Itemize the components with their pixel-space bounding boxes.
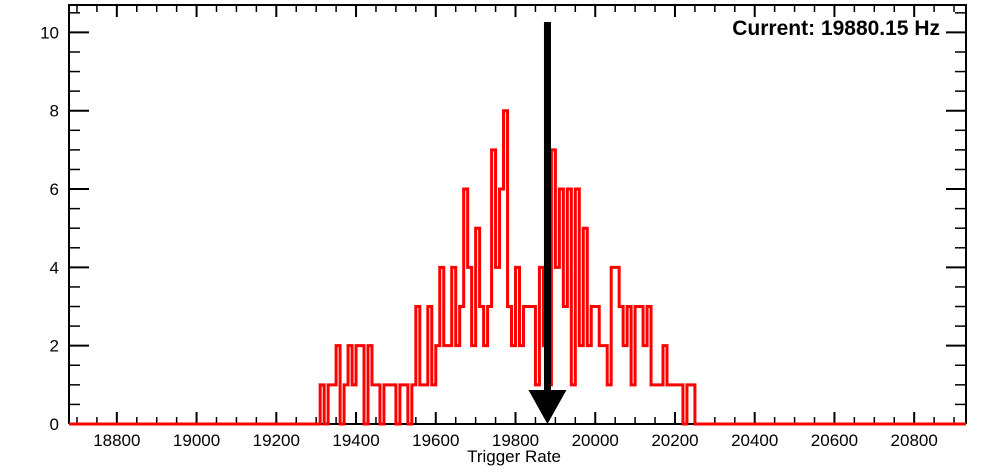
y-tick-label: 2 (50, 337, 59, 356)
x-tick-label: 20000 (572, 431, 619, 450)
y-tick-label: 6 (50, 180, 59, 199)
x-tick-label: 20800 (891, 431, 938, 450)
x-tick-label: 20400 (731, 431, 778, 450)
x-tick-label: 20200 (651, 431, 698, 450)
x-tick-label: 19200 (253, 431, 300, 450)
x-tick-label: 19600 (412, 431, 459, 450)
histogram-canvas: 1880019000192001940019600198002000020200… (0, 0, 996, 472)
x-tick-label: 19000 (173, 431, 220, 450)
x-tick-label: 19400 (332, 431, 379, 450)
y-tick-label: 4 (50, 258, 59, 277)
y-tick-label: 10 (40, 23, 59, 42)
x-axis-title: Trigger Rate (467, 447, 561, 466)
current-rate-label: Current: 19880.15 Hz (732, 17, 940, 40)
plot-frame (69, 5, 966, 424)
axis-ticks (69, 5, 966, 424)
axis-tick-labels: 1880019000192001940019600198002000020200… (40, 23, 938, 450)
x-tick-label: 20600 (811, 431, 858, 450)
y-tick-label: 0 (50, 415, 59, 434)
histogram-series (69, 111, 966, 424)
x-tick-label: 18800 (93, 431, 140, 450)
y-tick-label: 8 (50, 102, 59, 121)
trigger-rate-histogram: 1880019000192001940019600198002000020200… (0, 0, 996, 472)
